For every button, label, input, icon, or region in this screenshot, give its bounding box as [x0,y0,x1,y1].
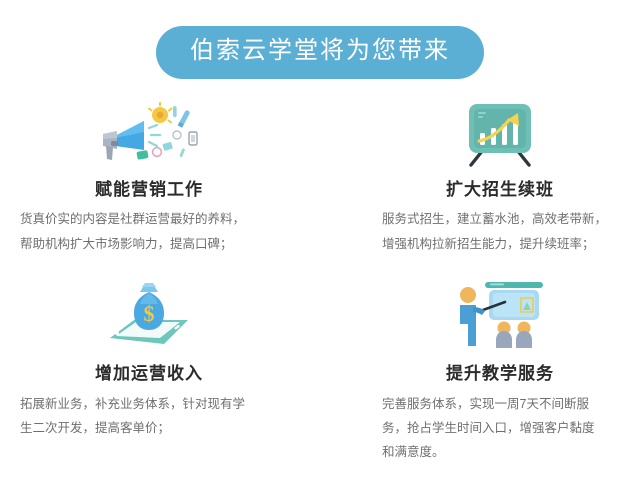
feature-title: 扩大招生续班 [380,180,620,200]
svg-text:$: $ [144,301,155,326]
feature-grid: 赋能营销工作 货真价实的内容是社群运营最好的养料， 帮助机构扩大市场影响力，提高… [0,96,640,465]
feature-row-2: $ 增加运营收入 拓展新业务，补充业务体系，针对现有学 生二次开发，提高客单价； [0,278,640,465]
desc-line: 服务式招生，建立蓄水池，高效老带新， [382,207,620,231]
promo-page: 伯索云学堂将为您带来 [0,0,640,484]
money-bag-phone-icon: $ [20,278,278,352]
desc-line: 完善服务体系，实现一周7天不间断服 [382,392,620,416]
feature-description: 服务式招生，建立蓄水池，高效老带新， 增强机构拉新招生能力，提升续班率； [380,207,620,256]
feature-description: 拓展新业务，补充业务体系，针对现有学 生二次开发，提高客单价； [20,392,278,441]
desc-line: 务，抢占学生时间入口，增强客户黏度 [382,416,620,440]
desc-line: 增强机构拉新招生能力，提升续班率； [382,232,620,256]
feature-title: 增加运营收入 [20,364,278,384]
desc-line: 帮助机构扩大市场影响力，提高口碑； [20,232,278,256]
feature-card-marketing: 赋能营销工作 货真价实的内容是社群运营最好的养料， 帮助机构扩大市场影响力，提高… [0,96,320,256]
feature-title: 赋能营销工作 [20,180,278,200]
desc-line: 生二次开发，提高客单价； [20,416,278,440]
feature-card-teaching: 提升教学服务 完善服务体系，实现一周7天不间断服 务，抢占学生时间入口，增强客户… [320,278,640,465]
megaphone-icon [20,96,278,168]
feature-description: 完善服务体系，实现一周7天不间断服 务，抢占学生时间入口，增强客户黏度 和满意度… [380,392,620,465]
desc-line: 和满意度。 [382,440,620,464]
feature-row-1: 赋能营销工作 货真价实的内容是社群运营最好的养料， 帮助机构扩大市场影响力，提高… [0,96,640,256]
page-title-banner: 伯索云学堂将为您带来 [156,26,484,79]
banner-container: 伯索云学堂将为您带来 [0,26,640,79]
feature-card-enrollment: 扩大招生续班 服务式招生，建立蓄水池，高效老带新， 增强机构拉新招生能力，提升续… [320,96,640,256]
feature-title: 提升教学服务 [380,364,620,384]
desc-line: 拓展新业务，补充业务体系，针对现有学 [20,392,278,416]
feature-card-revenue: $ 增加运营收入 拓展新业务，补充业务体系，针对现有学 生二次开发，提高客单价； [0,278,320,465]
desc-line: 货真价实的内容是社群运营最好的养料， [20,207,278,231]
teacher-whiteboard-icon [380,278,620,352]
growth-chart-board-icon [380,96,620,168]
feature-description: 货真价实的内容是社群运营最好的养料， 帮助机构扩大市场影响力，提高口碑； [20,207,278,256]
